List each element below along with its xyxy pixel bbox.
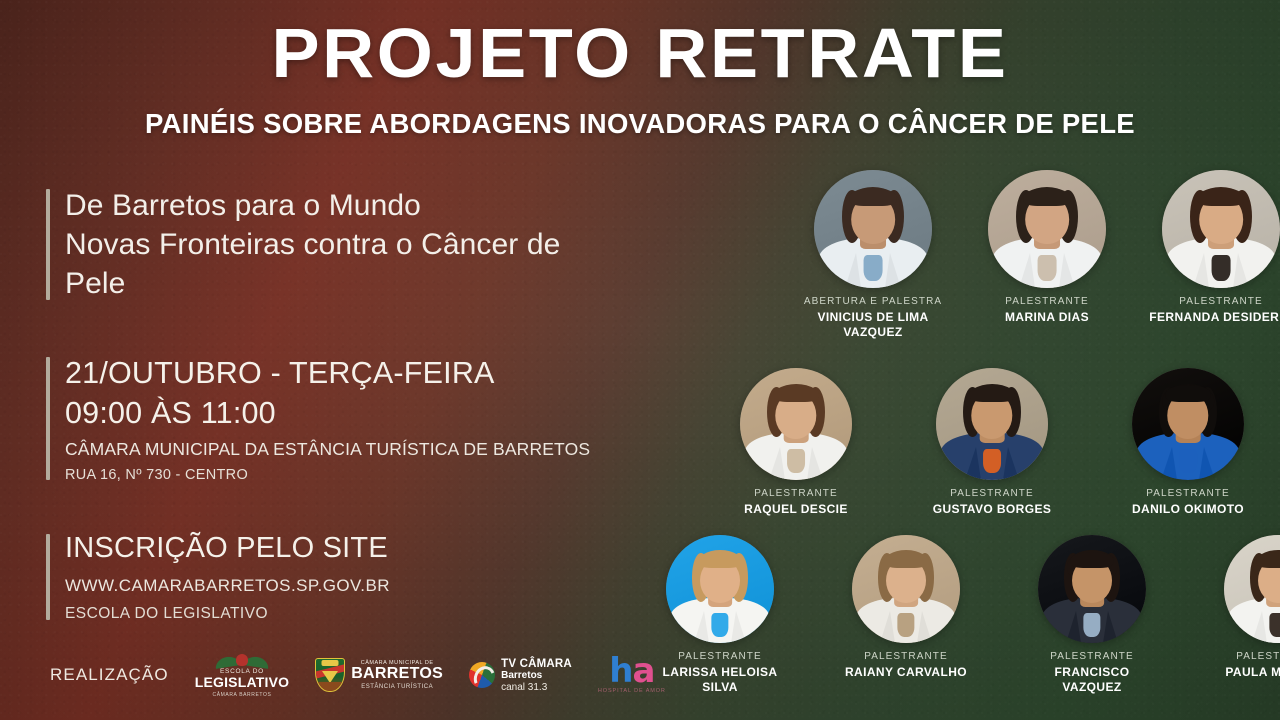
speaker-role: ABERTURA E PALESTRA xyxy=(804,296,942,307)
logo-hospital-de-amor: ha HOSPITAL DE AMOR xyxy=(598,656,666,694)
speaker-photo xyxy=(936,368,1048,480)
speaker-name: FERNANDA DESIDERIO xyxy=(1149,310,1280,325)
event-venue: CÂMARA MUNICIPAL DA ESTÂNCIA TURÍSTICA D… xyxy=(65,439,686,460)
speaker-photo xyxy=(666,535,774,643)
speaker-role: PALESTRANTE xyxy=(1050,651,1134,662)
coat-of-arms-icon xyxy=(315,658,345,692)
speaker-photo xyxy=(814,170,932,288)
speaker-name: GUSTAVO BORGES xyxy=(933,502,1052,517)
registration-org: ESCOLA DO LEGISLATIVO xyxy=(65,605,686,623)
speaker-name: MARINA DIAS xyxy=(1005,310,1089,325)
speakers-row-2: PALESTRANTE RAQUEL DESCIE PALESTRANTE GU… xyxy=(726,368,1258,517)
poster-canvas: PROJETO RETRATE PAINÉIS SOBRE ABORDAGENS… xyxy=(0,0,1280,720)
speaker-card: PALESTRANTE GUSTAVO BORGES xyxy=(922,368,1062,517)
speaker-name: DANILO OKIMOTO xyxy=(1132,502,1244,517)
logo-line-2: BARRETOS xyxy=(351,666,443,683)
speaker-card: PALESTRANTE FERNANDA DESIDERIO xyxy=(1148,170,1280,325)
logo-line-3: ESTÂNCIA TURÍSTICA xyxy=(351,684,443,690)
speaker-name: FRANCISCO VAZQUEZ xyxy=(1024,665,1160,695)
speaker-name: RAQUEL DESCIE xyxy=(744,502,848,517)
event-time: 09:00 ÀS 11:00 xyxy=(65,394,686,434)
speaker-card: PALESTRANTE RAQUEL DESCIE xyxy=(726,368,866,517)
speaker-photo xyxy=(988,170,1106,288)
speaker-card: PALESTRANTE RAIANY CARVALHO xyxy=(838,535,974,680)
speaker-role: PALESTRANTE xyxy=(1146,488,1230,499)
accent-bar xyxy=(46,357,50,480)
speaker-photo xyxy=(740,368,852,480)
logo-line-2: LEGISLATIVO xyxy=(195,675,290,690)
speaker-role: PALESTRANTE xyxy=(1005,296,1089,307)
speaker-card: PALESTRANTE MARINA DIAS xyxy=(974,170,1120,325)
realizacao-label: REALIZAÇÃO xyxy=(50,665,169,685)
logo-tv-camara-barretos: TV CÂMARA Barretos canal 31.3 xyxy=(469,658,572,693)
logo-caption: HOSPITAL DE AMOR xyxy=(598,688,666,694)
info-column: De Barretos para o Mundo Novas Fronteira… xyxy=(46,186,686,623)
page-title: PROJETO RETRATE xyxy=(0,18,1280,88)
logo-line-1: TV CÂMARA xyxy=(501,658,572,671)
registration-heading: INSCRIÇÃO PELO SITE xyxy=(65,531,686,566)
speaker-card: PALESTRANTE FRANCISCO VAZQUEZ xyxy=(1024,535,1160,695)
tv-camara-ball-icon xyxy=(469,662,495,688)
speaker-card: PALESTRANTE PAULA MOREIRA xyxy=(1210,535,1280,680)
speakers-row-3: PALESTRANTE LARISSA HELOISA SILVA PALEST… xyxy=(652,535,1280,695)
speaker-card: PALESTRANTE DANILO OKIMOTO xyxy=(1118,368,1258,517)
speaker-role: PALESTRANTE xyxy=(950,488,1034,499)
ha-letter-a: a xyxy=(632,651,654,691)
speaker-photo xyxy=(1038,535,1146,643)
ha-letter-h: h xyxy=(609,651,632,691)
logo-line-3: canal 31.3 xyxy=(501,682,572,693)
accent-bar xyxy=(46,189,50,300)
schedule-block: 21/OUTUBRO - TERÇA-FEIRA 09:00 ÀS 11:00 … xyxy=(46,354,686,483)
logo-escola-do-legislativo: ESCOLA DO LEGISLATIVO CÂMARA BARRETOS xyxy=(195,652,290,698)
speaker-name: RAIANY CARVALHO xyxy=(845,665,967,680)
speaker-card: ABERTURA E PALESTRA VINICIUS DE LIMA VAZ… xyxy=(800,170,946,340)
speakers-row-1: ABERTURA E PALESTRA VINICIUS DE LIMA VAZ… xyxy=(800,170,1280,340)
event-date: 21/OUTUBRO - TERÇA-FEIRA xyxy=(65,354,686,394)
registration-site-link[interactable]: WWW.CAMARABARRETOS.SP.GOV.BR xyxy=(65,576,686,596)
ha-wordmark-icon: ha xyxy=(609,656,654,687)
logo-line-3: CÂMARA BARRETOS xyxy=(212,692,271,698)
book-emblem-icon xyxy=(215,654,269,667)
speaker-photo xyxy=(852,535,960,643)
accent-bar xyxy=(46,534,50,619)
speaker-role: PALESTRANTE xyxy=(864,651,948,662)
footer-logos: REALIZAÇÃO ESCOLA DO LEGISLATIVO CÂMARA … xyxy=(50,652,666,698)
speaker-name: LARISSA HELOISA SILVA xyxy=(652,665,788,695)
speaker-card: PALESTRANTE LARISSA HELOISA SILVA xyxy=(652,535,788,695)
theme-line-3: Pele xyxy=(65,264,686,303)
speaker-name: PAULA MOREIRA xyxy=(1225,665,1280,680)
speaker-role: PALESTRANTE xyxy=(1179,296,1263,307)
speaker-photo xyxy=(1224,535,1280,643)
poster-header: PROJETO RETRATE PAINÉIS SOBRE ABORDAGENS… xyxy=(0,18,1280,138)
speaker-role: PALESTRANTE xyxy=(754,488,838,499)
speaker-role: PALESTRANTE xyxy=(678,651,762,662)
speaker-role: PALESTRANTE xyxy=(1236,651,1280,662)
registration-block: INSCRIÇÃO PELO SITE WWW.CAMARABARRETOS.S… xyxy=(46,531,686,622)
theme-line-2: Novas Fronteiras contra o Câncer de xyxy=(65,225,686,264)
page-subtitle: PAINÉIS SOBRE ABORDAGENS INOVADORAS PARA… xyxy=(0,110,1280,138)
logo-line-2: Barretos xyxy=(501,670,572,681)
speaker-name: VINICIUS DE LIMA VAZQUEZ xyxy=(800,310,946,340)
speaker-photo xyxy=(1162,170,1280,288)
logo-camara-municipal-barretos: CÂMARA MUNICIPAL DE BARRETOS ESTÂNCIA TU… xyxy=(315,658,443,692)
speaker-photo xyxy=(1132,368,1244,480)
event-address: RUA 16, Nº 730 - CENTRO xyxy=(65,467,686,483)
theme-line-1: De Barretos para o Mundo xyxy=(65,186,686,225)
theme-block: De Barretos para o Mundo Novas Fronteira… xyxy=(46,186,686,303)
